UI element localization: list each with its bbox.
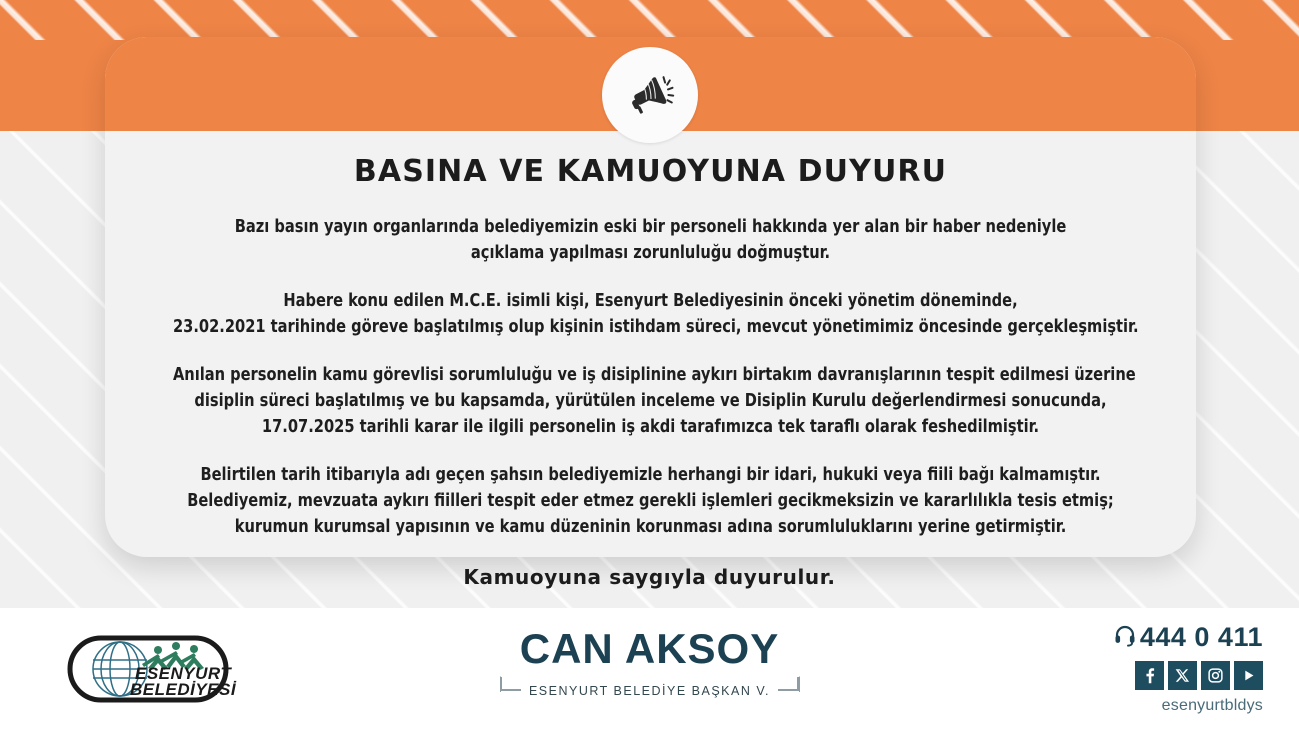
mayor-name: CAN AKSOY bbox=[500, 628, 800, 670]
paragraph-line: Belirtilen tarih itibarıyla adı geçen şa… bbox=[173, 462, 1128, 488]
logo-line-2: BELEDİYESİ bbox=[130, 680, 237, 699]
paragraph-line: kurumun kurumsal yapısının ve kamu düzen… bbox=[173, 514, 1128, 540]
closing-statement: Kamuoyuna saygıyla duyurulur. bbox=[0, 565, 1299, 589]
announcement-poster: BASINA VE KAMUOYUNA DUYURU Bazı basın ya… bbox=[0, 0, 1299, 734]
bracket-left bbox=[501, 677, 503, 690]
paragraph-4: Belirtilen tarih itibarıyla adı geçen şa… bbox=[173, 462, 1128, 540]
announcement-text-block: BASINA VE KAMUOYUNA DUYURU Bazı basın ya… bbox=[105, 155, 1196, 540]
paragraph-line: 23.02.2021 tarihinde göreve başlatılmış … bbox=[173, 314, 1128, 340]
paragraph-line: 17.07.2025 tarihli karar ile ilgili pers… bbox=[173, 414, 1128, 440]
page-title: BASINA VE KAMUOYUNA DUYURU bbox=[137, 155, 1164, 188]
paragraph-line: açıklama yapılması zorunluluğu doğmuştur… bbox=[173, 240, 1128, 266]
bracket-right bbox=[797, 677, 799, 690]
paragraph-1: Bazı basın yayın organlarında belediyemi… bbox=[173, 214, 1128, 266]
paragraph-line: Anılan personelin kamu görevlisi sorumlu… bbox=[173, 362, 1128, 388]
paragraph-2: Habere konu edilen M.C.E. isimli kişi, E… bbox=[173, 288, 1128, 340]
megaphone-badge bbox=[602, 47, 698, 143]
x-twitter-icon[interactable] bbox=[1168, 661, 1197, 690]
header-stripe-pattern bbox=[0, 0, 1299, 40]
paragraph-line: Belediyemiz, mevzuata aykırı fiilleri te… bbox=[173, 488, 1128, 514]
contact-block: 444 0 411 bbox=[1113, 622, 1263, 715]
social-handle: esenyurtbldys bbox=[1113, 697, 1263, 715]
paragraph-line: disiplin süreci başlatılmış ve bu kapsam… bbox=[173, 388, 1128, 414]
facebook-icon[interactable] bbox=[1135, 661, 1164, 690]
footer-bar: ESENYURT BELEDİYESİ CAN AKSOY ESENYURT B… bbox=[0, 608, 1299, 734]
mayor-logo: CAN AKSOY ESENYURT BELEDİYE BAŞKAN V. bbox=[500, 628, 800, 700]
mayor-title-wrap: ESENYURT BELEDİYE BAŞKAN V. bbox=[500, 680, 800, 700]
headset-icon bbox=[1113, 623, 1137, 652]
paragraph-line: Habere konu edilen M.C.E. isimli kişi, E… bbox=[173, 288, 1128, 314]
youtube-icon[interactable] bbox=[1234, 661, 1263, 690]
social-links bbox=[1113, 661, 1263, 690]
paragraph-line: Bazı basın yayın organlarında belediyemi… bbox=[173, 214, 1128, 240]
megaphone-icon bbox=[622, 71, 678, 119]
instagram-icon[interactable] bbox=[1201, 661, 1230, 690]
paragraph-3: Anılan personelin kamu görevlisi sorumlu… bbox=[173, 362, 1128, 440]
esenyurt-belediyesi-logo: ESENYURT BELEDİYESİ bbox=[62, 624, 237, 714]
phone-row[interactable]: 444 0 411 bbox=[1113, 622, 1263, 653]
phone-number: 444 0 411 bbox=[1140, 622, 1263, 653]
mayor-title: ESENYURT BELEDİYE BAŞKAN V. bbox=[521, 684, 778, 698]
